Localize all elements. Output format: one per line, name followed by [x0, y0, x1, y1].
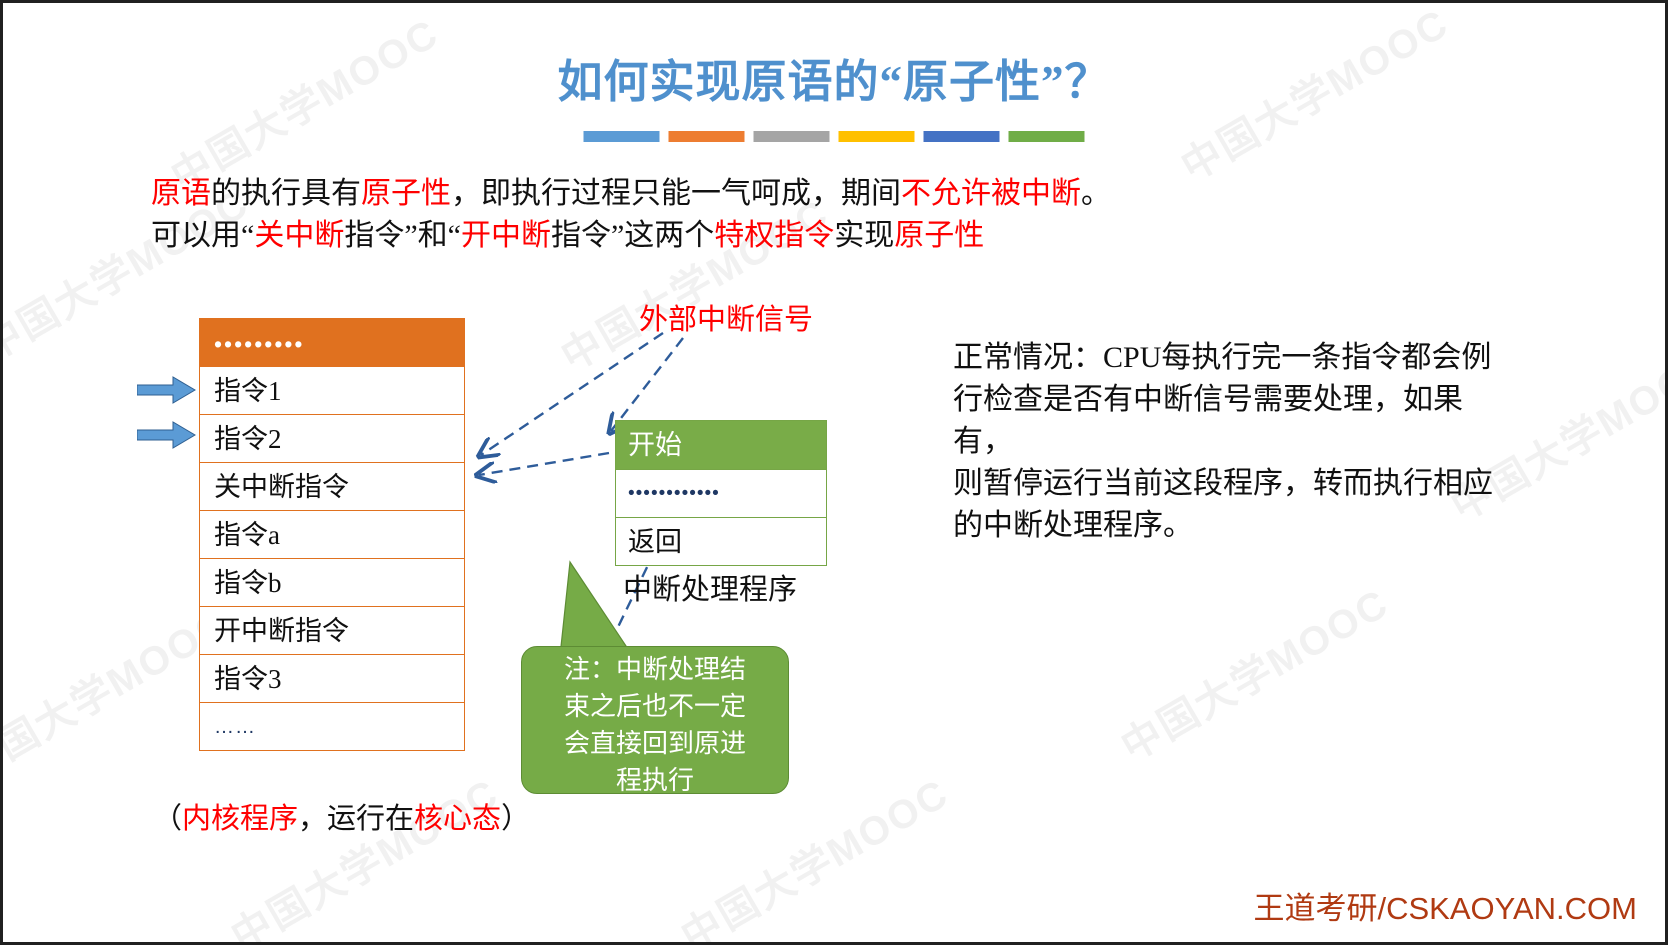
instruction-header-dots: •••••••••	[214, 331, 304, 358]
table-row: 指令2	[200, 414, 464, 462]
handler-body-dots: ••••••••••••	[616, 469, 826, 517]
external-interrupt-signal-label: 外部中断信号	[639, 296, 813, 338]
callout-tail	[532, 540, 652, 660]
title-bar-2	[669, 131, 745, 142]
explanation-line-1: 正常情况：CPU每执行完一条指令都会例	[953, 337, 1493, 379]
title-bar-6	[1009, 131, 1085, 142]
instruction-table: ••••••••• 指令1 指令2 关中断指令 指令a 指令b 开中断指令 指令…	[199, 318, 465, 751]
table-row: 指令1	[200, 366, 464, 414]
title-bar-4	[839, 131, 915, 142]
table-row: 开中断指令	[200, 606, 464, 654]
instruction-table-header: •••••••••	[200, 319, 464, 366]
pointer-arrow-instruction-2	[137, 420, 197, 450]
callout-text: 注：中断处理结 束之后也不一定 会直接回到原进 程执行	[521, 651, 789, 799]
title-underline-bars	[584, 131, 1085, 142]
intro-line-1: 原语的执行具有原子性，即执行过程只能一气呵成，期间不允许被中断。	[151, 173, 1111, 215]
title-bar-5	[924, 131, 1000, 142]
table-row: 指令3	[200, 654, 464, 702]
callout-line-4: 程执行	[521, 762, 789, 799]
slide-canvas: 中国大学MOOC 中国大学MOOC 中国大学MOOC 中国大学MOOC 中国大学…	[0, 0, 1668, 945]
intro-paragraph: 原语的执行具有原子性，即执行过程只能一气呵成，期间不允许被中断。 可以用“关中断…	[151, 173, 1111, 257]
title-bar-3	[754, 131, 830, 142]
table-row: ……	[200, 702, 464, 750]
callout-line-1: 注：中断处理结	[521, 651, 789, 688]
kernel-mode-note: （内核程序，运行在核心态）	[153, 795, 530, 837]
callout-line-3: 会直接回到原进	[521, 725, 789, 762]
table-row: 指令a	[200, 510, 464, 558]
watermark: 中国大学MOOC	[1109, 572, 1398, 772]
explanation-line-3: 则暂停运行当前这段程序，转而执行相应	[953, 463, 1493, 505]
explanation-paragraph: 正常情况：CPU每执行完一条指令都会例 行检查是否有中断信号需要处理，如果有， …	[953, 337, 1493, 547]
table-row: 指令b	[200, 558, 464, 606]
handler-header: 开始	[616, 421, 826, 469]
brand-footer: 王道考研/CSKAOYAN.COM	[1253, 883, 1637, 928]
table-row: 关中断指令	[200, 462, 464, 510]
pointer-arrow-instruction-1	[137, 375, 197, 405]
page-title: 如何实现原语的“原子性”？	[3, 45, 1665, 110]
explanation-line-2: 行检查是否有中断信号需要处理，如果有，	[953, 379, 1493, 463]
intro-line-2: 可以用“关中断指令”和“开中断指令”这两个特权指令实现原子性	[151, 215, 1111, 257]
callout-line-2: 束之后也不一定	[521, 688, 789, 725]
explanation-line-4: 的中断处理程序。	[953, 505, 1493, 547]
watermark: 中国大学MOOC	[219, 762, 508, 945]
arrow-handler-to-instructions	[479, 453, 609, 475]
arrow-signal-to-handler	[611, 338, 683, 431]
title-bar-1	[584, 131, 660, 142]
